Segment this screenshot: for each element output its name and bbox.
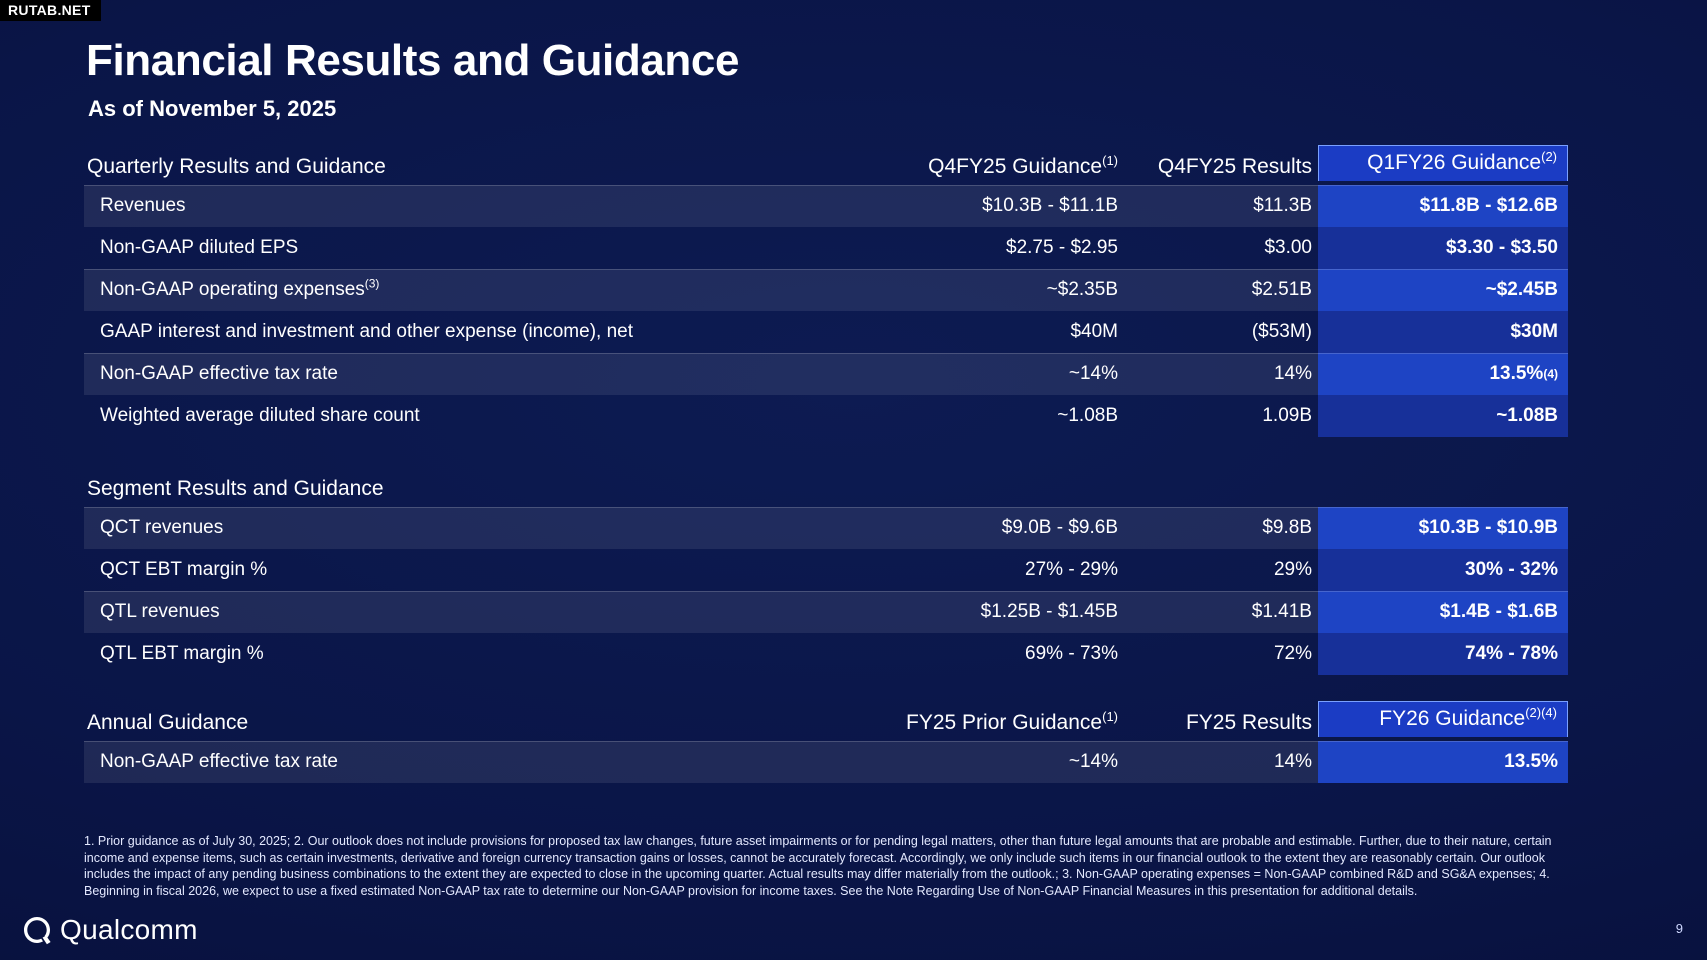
row-value-next-guidance: $1.4B - $1.6B xyxy=(1318,591,1568,633)
row-value-results: $3.00 xyxy=(1118,237,1318,259)
row-value-results: ($53M) xyxy=(1118,321,1318,343)
column-header-segment-guidance xyxy=(868,501,1118,503)
row-value-next-guidance: $11.8B - $12.6B xyxy=(1318,185,1568,227)
row-value-results: $1.41B xyxy=(1118,601,1318,623)
column-header-footnote-ref: (2)(4) xyxy=(1525,705,1557,720)
row-value-text: 74% - 78% xyxy=(1465,643,1558,665)
row-label: Non-GAAP diluted EPS xyxy=(84,237,868,259)
section-title-segment: Segment Results and Guidance xyxy=(84,477,384,503)
watermark-badge: RUTAB.NET xyxy=(0,0,101,21)
table-row: QTL EBT margin % 69% - 73% 72% 74% - 78% xyxy=(84,633,1568,675)
row-value-guidance: ~14% xyxy=(868,751,1118,773)
table-row: Non-GAAP effective tax rate ~14% 14% 13.… xyxy=(84,353,1568,395)
column-header-footnote-ref: (1) xyxy=(1102,709,1118,724)
row-label: QCT EBT margin % xyxy=(84,559,868,581)
table-row: Revenues $10.3B - $11.1B $11.3B $11.8B -… xyxy=(84,185,1568,227)
row-value-next-guidance: $10.3B - $10.9B xyxy=(1318,507,1568,549)
section-title-annual: Annual Guidance xyxy=(84,711,248,737)
table-row: QTL revenues $1.25B - $1.45B $1.41B $1.4… xyxy=(84,591,1568,633)
row-value-next-guidance: 30% - 32% xyxy=(1318,549,1568,591)
column-header-footnote-ref: (2) xyxy=(1541,149,1557,164)
table-row: QCT revenues $9.0B - $9.6B $9.8B $10.3B … xyxy=(84,507,1568,549)
row-label: Non-GAAP operating expenses(3) xyxy=(84,279,868,301)
row-label-text: Non-GAAP operating expenses xyxy=(100,279,365,300)
row-value-text: $30M xyxy=(1510,321,1558,343)
row-value-guidance: $9.0B - $9.6B xyxy=(868,517,1118,539)
column-header-fy25-prior-guidance: FY25 Prior Guidance(1) xyxy=(868,711,1118,737)
table-row: Non-GAAP effective tax rate ~14% 14% 13.… xyxy=(84,741,1568,783)
table-row: Non-GAAP operating expenses(3) ~$2.35B $… xyxy=(84,269,1568,311)
row-value-text: ~$2.45B xyxy=(1486,279,1558,301)
column-header-segment-next-guidance xyxy=(1318,492,1568,503)
row-value-text: $10.3B - $10.9B xyxy=(1419,517,1558,539)
row-value-text: $1.4B - $1.6B xyxy=(1440,601,1558,623)
section-header-quarterly: Quarterly Results and Guidance Q4FY25 Gu… xyxy=(84,145,1568,181)
row-value-text: $3.30 - $3.50 xyxy=(1446,237,1558,259)
column-header-footnote-ref: (1) xyxy=(1102,153,1118,168)
row-value-next-guidance: ~1.08B xyxy=(1318,395,1568,437)
section-header-segment: Segment Results and Guidance xyxy=(84,467,1568,503)
row-value-guidance: 69% - 73% xyxy=(868,643,1118,665)
section-header-annual: Annual Guidance FY25 Prior Guidance(1) F… xyxy=(84,701,1568,737)
row-label: Non-GAAP effective tax rate xyxy=(84,363,868,385)
page-title: Financial Results and Guidance xyxy=(86,36,739,86)
row-value-results: $11.3B xyxy=(1118,195,1318,217)
results-tables: Quarterly Results and Guidance Q4FY25 Gu… xyxy=(84,145,1568,783)
column-header-q4fy25-guidance: Q4FY25 Guidance(1) xyxy=(868,155,1118,181)
row-label: QTL EBT margin % xyxy=(84,643,868,665)
row-value-results: 1.09B xyxy=(1118,405,1318,427)
row-value-next-guidance: $30M xyxy=(1318,311,1568,353)
column-header-fy25-results: FY25 Results xyxy=(1118,711,1318,737)
row-value-guidance: $2.75 - $2.95 xyxy=(868,237,1118,259)
column-header-q1fy26-guidance: Q1FY26 Guidance(2) xyxy=(1318,145,1568,181)
row-value-text: $11.8B - $12.6B xyxy=(1420,195,1558,217)
row-value-results: 14% xyxy=(1118,363,1318,385)
row-value-results: 72% xyxy=(1118,643,1318,665)
row-label: GAAP interest and investment and other e… xyxy=(84,321,868,343)
page-subtitle: As of November 5, 2025 xyxy=(88,96,336,122)
row-value-guidance: ~$2.35B xyxy=(868,279,1118,301)
row-label: QCT revenues xyxy=(84,517,868,539)
section-title-quarterly: Quarterly Results and Guidance xyxy=(84,155,386,181)
row-value-guidance: ~14% xyxy=(868,363,1118,385)
section-gap xyxy=(84,675,1568,701)
row-value-results: $2.51B xyxy=(1118,279,1318,301)
row-value-next-guidance: 74% - 78% xyxy=(1318,633,1568,675)
qualcomm-logo: Qualcomm xyxy=(22,914,198,946)
row-value-guidance: $1.25B - $1.45B xyxy=(868,601,1118,623)
row-label: Weighted average diluted share count xyxy=(84,405,868,427)
column-header-label: Q4FY25 Guidance xyxy=(928,155,1102,178)
qualcomm-wordmark: Qualcomm xyxy=(60,914,198,946)
column-header-label: Q1FY26 Guidance xyxy=(1367,151,1541,174)
row-label: Non-GAAP effective tax rate xyxy=(84,751,868,773)
row-label: Revenues xyxy=(84,195,868,217)
column-header-label: FY25 Results xyxy=(1186,711,1312,734)
column-header-fy26-guidance: FY26 Guidance(2)(4) xyxy=(1318,701,1568,737)
table-row: GAAP interest and investment and other e… xyxy=(84,311,1568,353)
row-value-next-guidance: ~$2.45B xyxy=(1318,269,1568,311)
footnotes: 1. Prior guidance as of July 30, 2025; 2… xyxy=(84,833,1574,899)
qualcomm-swirl-icon xyxy=(22,915,52,945)
column-header-label: FY25 Prior Guidance xyxy=(906,711,1102,734)
row-value-guidance: 27% - 29% xyxy=(868,559,1118,581)
table-row: Non-GAAP diluted EPS $2.75 - $2.95 $3.00… xyxy=(84,227,1568,269)
row-value-text: 13.5% xyxy=(1489,363,1543,385)
page-number: 9 xyxy=(1676,921,1683,936)
column-header-label: FY26 Guidance xyxy=(1379,707,1525,730)
row-label: QTL revenues xyxy=(84,601,868,623)
row-value-results: 29% xyxy=(1118,559,1318,581)
row-value-next-guidance: 13.5% xyxy=(1318,741,1568,783)
row-value-next-guidance: $3.30 - $3.50 xyxy=(1318,227,1568,269)
row-value-text: 30% - 32% xyxy=(1465,559,1558,581)
column-header-q4fy25-results: Q4FY25 Results xyxy=(1118,155,1318,181)
row-value-results: 14% xyxy=(1118,751,1318,773)
row-value-guidance: $10.3B - $11.1B xyxy=(868,195,1118,217)
column-header-segment-results xyxy=(1118,501,1318,503)
table-row: Weighted average diluted share count ~1.… xyxy=(84,395,1568,437)
column-header-label: Q4FY25 Results xyxy=(1158,155,1312,178)
row-value-next-guidance: 13.5%(4) xyxy=(1318,353,1568,395)
row-value-text: 13.5% xyxy=(1504,751,1558,773)
table-row: QCT EBT margin % 27% - 29% 29% 30% - 32% xyxy=(84,549,1568,591)
row-value-results: $9.8B xyxy=(1118,517,1318,539)
row-value-guidance: $40M xyxy=(868,321,1118,343)
row-value-text: ~1.08B xyxy=(1496,405,1558,427)
section-gap xyxy=(84,437,1568,467)
row-value-guidance: ~1.08B xyxy=(868,405,1118,427)
row-label-footnote-ref: (3) xyxy=(365,277,380,291)
slide-content: RUTAB.NET Financial Results and Guidance… xyxy=(0,0,1707,960)
